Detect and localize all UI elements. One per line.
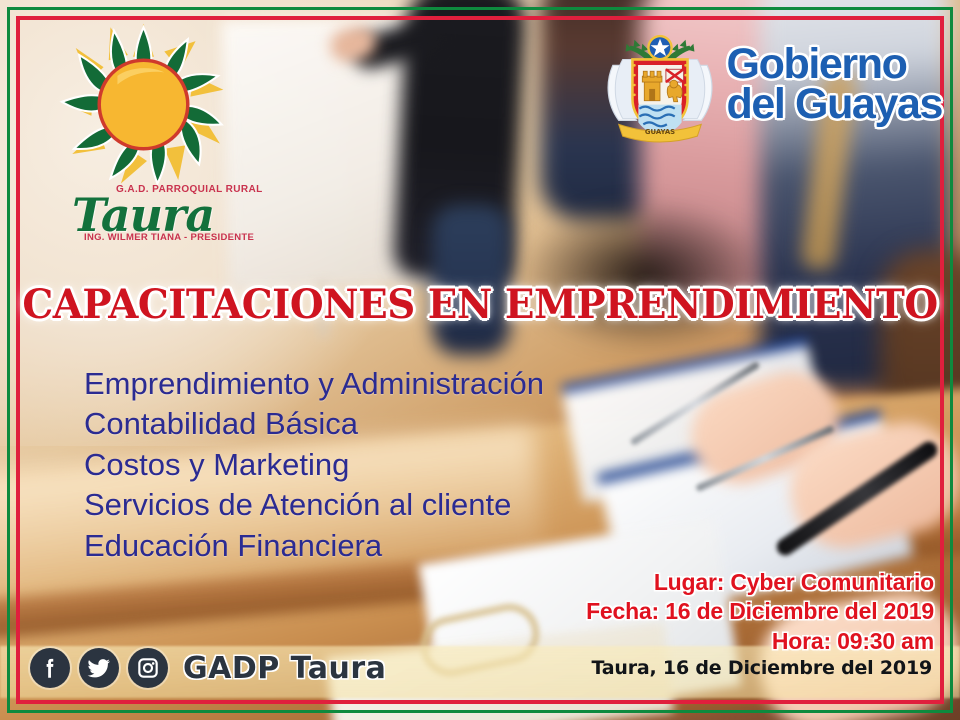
course-list: Emprendimiento y Administración Contabil…: [84, 364, 544, 566]
social-links: GADP Taura: [30, 648, 386, 688]
footer-bar: GADP Taura Taura, 16 de Diciembre del 20…: [30, 642, 932, 694]
facebook-icon[interactable]: [30, 648, 70, 688]
taura-wordmark: G.A.D. PARROQUIAL RURAL Taura ING. WILME…: [38, 174, 248, 246]
taura-logo: G.A.D. PARROQUIAL RURAL Taura ING. WILME…: [38, 22, 248, 247]
course-item: Educación Financiera: [84, 526, 544, 566]
guayas-logo: GUAYAS Gobierno del Guayas: [601, 26, 942, 144]
social-handle: GADP Taura: [183, 651, 386, 686]
course-item: Emprendimiento y Administración: [84, 364, 544, 404]
instagram-icon[interactable]: [128, 648, 168, 688]
sun-leaf-logo-icon: [56, 22, 231, 187]
footer-date: Taura, 16 de Diciembre del 2019: [591, 657, 932, 679]
course-item: Servicios de Atención al cliente: [84, 485, 544, 525]
guayas-coat-of-arms-icon: GUAYAS: [601, 26, 719, 144]
course-item: Contabilidad Básica: [84, 404, 544, 444]
page-title: CAPACITACIONES EN EMPRENDIMIENTO: [14, 281, 945, 328]
svg-text:GUAYAS: GUAYAS: [644, 128, 674, 136]
guayas-line-2: del Guayas: [727, 85, 942, 125]
event-date: Fecha: 16 de Diciembre del 2019: [586, 597, 934, 626]
event-place: Lugar: Cyber Comunitario: [586, 568, 934, 597]
twitter-icon[interactable]: [79, 648, 119, 688]
photo-presenter-jeans: [432, 205, 510, 355]
taura-president-line: ING. WILMER TIANA - PRESIDENTE: [84, 232, 254, 243]
event-flyer: G.A.D. PARROQUIAL RURAL Taura ING. WILME…: [0, 0, 960, 720]
course-item: Costos y Marketing: [84, 445, 544, 485]
guayas-wordmark: Gobierno del Guayas: [727, 45, 942, 124]
